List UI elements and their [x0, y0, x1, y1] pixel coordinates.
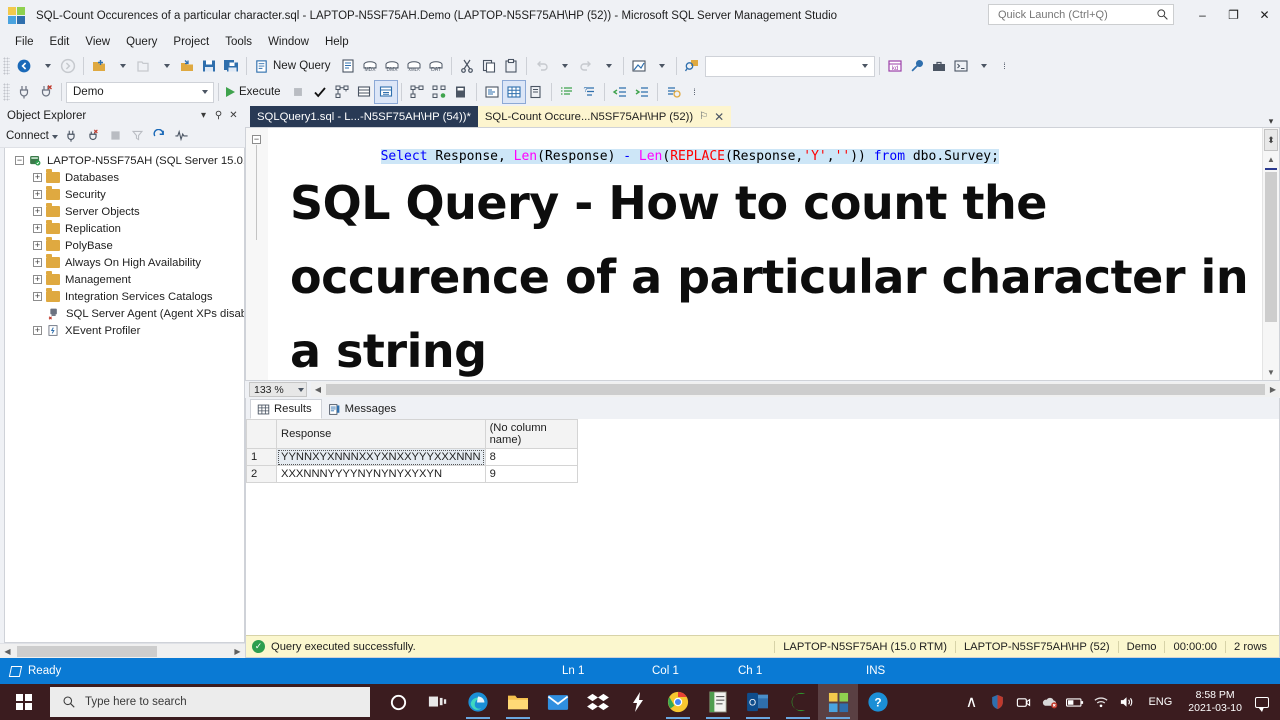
new-data-query-icon[interactable]: DAT: [425, 55, 447, 77]
results-panel: Results Messages: [245, 398, 1280, 658]
options-wrench-icon[interactable]: [906, 55, 928, 77]
lightning-icon[interactable]: [618, 684, 658, 720]
disconnect-icon[interactable]: [35, 81, 57, 103]
quick-launch-input[interactable]: [996, 8, 1156, 22]
scroll-thumb[interactable]: [1265, 172, 1277, 322]
tree-node-label: Server Objects: [65, 206, 140, 218]
messages-icon: [328, 403, 341, 416]
include-client-statistics-icon[interactable]: [428, 81, 450, 103]
tree-node-management[interactable]: + Management: [5, 271, 244, 288]
sql-token: from: [874, 149, 905, 164]
tree-node-polybase[interactable]: + PolyBase: [5, 237, 244, 254]
undo-icon[interactable]: [531, 55, 553, 77]
pin-icon[interactable]: ⚐: [699, 111, 708, 122]
tab-sqlquery1[interactable]: SQLQuery1.sql - L...-N5SF75AH\HP (54))*: [250, 106, 478, 127]
include-actual-execution-plan-icon[interactable]: [375, 81, 397, 103]
menu-window[interactable]: Window: [260, 34, 317, 51]
increase-indent-icon[interactable]: [631, 81, 653, 103]
split-view-handle[interactable]: ⬍: [1264, 129, 1278, 151]
battery-icon[interactable]: [1062, 684, 1088, 720]
execute-button[interactable]: Execute: [223, 81, 287, 103]
standard-toolbar: New Query MDX DMX XMLA DAT: [0, 53, 1280, 79]
folder-icon: [46, 223, 60, 234]
sql-token: 'Y': [803, 149, 826, 164]
svg-text:O: O: [749, 698, 756, 708]
tree-node-label: Integration Services Catalogs: [65, 291, 213, 303]
navigate-back-icon[interactable]: [13, 55, 35, 77]
mail-icon[interactable]: [538, 684, 578, 720]
expander-icon[interactable]: +: [33, 292, 42, 301]
ssms-window: SQL-Count Occurences of a particular cha…: [0, 0, 1280, 684]
tree-node-label: Security: [65, 189, 106, 201]
windows-taskbar: Type here to search: [0, 684, 1280, 720]
tree-node-label: Databases: [65, 172, 119, 184]
chevron-down-icon[interactable]: ▾: [196, 110, 211, 121]
find-chevron-down-icon[interactable]: [857, 64, 871, 68]
object-explorer-toolbar: Connect: [0, 124, 245, 148]
cut-icon[interactable]: [456, 55, 478, 77]
expander-icon[interactable]: +: [33, 326, 42, 335]
copy-icon[interactable]: [478, 55, 500, 77]
screen-recorder-icon[interactable]: [1010, 684, 1036, 720]
oe-refresh-icon[interactable]: [149, 126, 170, 146]
tree-node-always-on[interactable]: + Always On High Availability: [5, 254, 244, 271]
action-center-icon[interactable]: [1250, 684, 1274, 720]
tree-node-label: SQL Server Agent (Agent XPs disabl: [66, 308, 245, 320]
tab-results[interactable]: Results: [250, 399, 322, 419]
ssms-logo-icon: [8, 7, 27, 26]
find-icon[interactable]: [681, 55, 703, 77]
menu-view[interactable]: View: [77, 34, 118, 51]
status-character: Ch 1: [738, 665, 762, 677]
new-project-icon[interactable]: [88, 55, 110, 77]
uncomment-lines-icon[interactable]: ?: [578, 81, 600, 103]
status-column: Col 1: [652, 665, 679, 677]
redo-dropdown[interactable]: [597, 55, 619, 77]
menu-project[interactable]: Project: [165, 34, 217, 51]
execution-plan-dropdown[interactable]: [650, 55, 672, 77]
onedrive-offline-icon[interactable]: [1036, 684, 1062, 720]
clock-time: 8:58 PM: [1188, 689, 1242, 702]
zoom-level-value: 133 %: [254, 384, 295, 396]
zoom-level-combo[interactable]: 133 %: [249, 382, 307, 397]
edge-icon[interactable]: [458, 684, 498, 720]
object-explorer-tree[interactable]: − LAPTOP-N5SF75AH (SQL Server 15.0.20 + …: [4, 148, 245, 643]
find-combo[interactable]: [705, 56, 875, 77]
expander-icon[interactable]: +: [33, 173, 42, 182]
sql-code-editor[interactable]: − Select Response, Len(Response) - Len(R…: [245, 127, 1280, 381]
navigate-back-dropdown[interactable]: [35, 55, 57, 77]
editor-area: SQLQuery1.sql - L...-N5SF75AH\HP (54))* …: [245, 105, 1280, 658]
navigate-forward-icon[interactable]: [57, 55, 79, 77]
toolbar2-overflow-icon[interactable]: ⁞: [684, 81, 706, 103]
vs-status-bar: Ready Ln 1 Col 1 Ch 1 INS: [0, 658, 1280, 684]
command-window-icon[interactable]: [950, 55, 972, 77]
object-explorer-hscrollbar[interactable]: ◀ ▶: [0, 643, 245, 658]
server-icon: [28, 154, 42, 167]
success-check-icon: ✓: [252, 640, 265, 653]
tree-node-label: PolyBase: [65, 240, 113, 252]
taskbar-icons: O ?: [378, 684, 898, 720]
screen: SQL-Count Occurences of a particular cha…: [0, 0, 1280, 720]
pin-icon[interactable]: ⚲: [211, 110, 226, 121]
menu-help[interactable]: Help: [317, 34, 357, 51]
close-icon[interactable]: ✕: [226, 110, 241, 121]
restore-button[interactable]: ❐: [1218, 0, 1249, 30]
menu-query[interactable]: Query: [118, 34, 165, 51]
scroll-down-icon[interactable]: ▼: [1263, 365, 1279, 380]
query-options-icon[interactable]: [353, 81, 375, 103]
save-icon[interactable]: [198, 55, 220, 77]
menu-file[interactable]: File: [7, 34, 42, 51]
expander-icon[interactable]: +: [33, 190, 42, 199]
object-explorer-header: Object Explorer ▾ ⚲ ✕: [0, 107, 245, 124]
specify-template-parameters-icon[interactable]: [662, 81, 684, 103]
agent-disabled-icon: [47, 307, 61, 320]
database-chevron-down-icon[interactable]: [196, 90, 210, 94]
menu-edit[interactable]: Edit: [42, 34, 78, 51]
window-title: SQL-Count Occurences of a particular cha…: [36, 10, 837, 22]
help-icon[interactable]: ?: [858, 684, 898, 720]
save-all-icon[interactable]: [220, 55, 242, 77]
results-to-file-icon[interactable]: [450, 81, 472, 103]
outlook-icon[interactable]: O: [738, 684, 778, 720]
execute-label: Execute: [239, 86, 281, 98]
expander-icon[interactable]: +: [33, 275, 42, 284]
start-button[interactable]: [0, 684, 48, 720]
scroll-right-icon[interactable]: ▶: [1266, 385, 1280, 394]
col-header-response[interactable]: Response: [277, 420, 486, 449]
query-status-bar: ✓ Query executed successfully. LAPTOP-N5…: [246, 635, 1279, 657]
close-button[interactable]: ✕: [1249, 0, 1280, 30]
clock[interactable]: 8:58 PM 2021-03-10: [1180, 689, 1250, 715]
status-elapsed: 00:00:00: [1164, 641, 1225, 653]
new-dmx-query-icon[interactable]: DMX: [381, 55, 403, 77]
expander-icon[interactable]: +: [33, 224, 42, 233]
scroll-left-icon[interactable]: ◀: [0, 647, 15, 656]
grid-icon: [257, 403, 270, 416]
tree-node-server[interactable]: − LAPTOP-N5SF75AH (SQL Server 15.0.20: [5, 152, 244, 169]
query-status-message: Query executed successfully.: [271, 641, 416, 653]
sql-token: Response,: [428, 149, 514, 164]
sql-token: Select: [381, 149, 428, 164]
search-placeholder: Type here to search: [85, 696, 187, 708]
notepad-icon[interactable]: [698, 684, 738, 720]
scroll-thumb[interactable]: [17, 646, 157, 657]
language-indicator[interactable]: ENG: [1140, 696, 1180, 708]
status-ready: Ready: [0, 665, 61, 677]
tabstrip-dropdown-icon[interactable]: ▾: [1262, 116, 1280, 127]
table-row[interactable]: 1 YYNNXYXNNNXXYXNXXYYYXXXNNN 8: [247, 449, 578, 466]
results-tabstrip: Results Messages: [246, 398, 1279, 419]
object-explorer-title: Object Explorer: [7, 110, 196, 122]
new-mdx-query-icon[interactable]: MDX: [359, 55, 381, 77]
oe-connect-icon[interactable]: [61, 126, 82, 146]
results-to-text-icon[interactable]: [481, 81, 503, 103]
workspace: Object Explorer ▾ ⚲ ✕ Connect: [0, 105, 1280, 658]
folder-icon: [46, 291, 60, 302]
xevent-icon: [46, 324, 60, 337]
window-controls: – ❐ ✕: [1187, 0, 1280, 30]
status-database: Demo: [1118, 641, 1165, 653]
tree-node-server-objects[interactable]: + Server Objects: [5, 203, 244, 220]
overlay-title-text: SQL Query - How to count the occurence o…: [290, 166, 1259, 381]
svg-text:MDX: MDX: [364, 67, 376, 73]
status-rowcount: 2 rows: [1225, 641, 1275, 653]
row-number[interactable]: 2: [247, 466, 277, 483]
tree-node-label: Management: [65, 274, 131, 286]
oe-stop-icon[interactable]: [105, 126, 126, 146]
scroll-thumb[interactable]: [326, 384, 1265, 395]
folder-icon: [46, 274, 60, 285]
quick-launch-box[interactable]: [988, 4, 1174, 25]
editor-zoom-bar: 133 % ◀ ▶: [245, 381, 1280, 398]
svg-text:DMX: DMX: [386, 67, 398, 73]
expander-icon[interactable]: −: [15, 156, 24, 165]
search-icon: [1156, 8, 1169, 21]
dropbox-icon[interactable]: [578, 684, 618, 720]
stop-icon[interactable]: [287, 81, 309, 103]
toolbox-icon[interactable]: [928, 55, 950, 77]
code-body[interactable]: Select Response, Len(Response) - Len(REP…: [268, 128, 1279, 380]
volume-icon[interactable]: [1114, 684, 1140, 720]
tree-node-sql-server-agent[interactable]: SQL Server Agent (Agent XPs disabl: [5, 305, 244, 322]
open-file-icon[interactable]: [176, 55, 198, 77]
results-to-grid-icon[interactable]: [503, 81, 525, 103]
new-xmla-query-icon[interactable]: XMLA: [403, 55, 425, 77]
task-view-icon[interactable]: [418, 684, 458, 720]
sql-token: dbo.Survey;: [905, 149, 999, 164]
editor-gutter: −: [246, 128, 268, 380]
expander-icon[interactable]: +: [33, 207, 42, 216]
cortana-icon[interactable]: [378, 684, 418, 720]
sql-token: (: [662, 149, 670, 164]
sql-token: )): [850, 149, 873, 164]
tree-node-xevent-profiler[interactable]: + XEvent Profiler: [5, 322, 244, 339]
clock-date: 2021-03-10: [1188, 702, 1242, 715]
new-analysis-query-icon[interactable]: [337, 55, 359, 77]
file-explorer-icon[interactable]: [498, 684, 538, 720]
connect-label: Connect: [6, 130, 49, 142]
tree-node-integration-services[interactable]: + Integration Services Catalogs: [5, 288, 244, 305]
show-hidden-icons-chevron-up-icon[interactable]: ∧: [958, 684, 984, 720]
query-status-details: LAPTOP-N5SF75AH (15.0 RTM) LAPTOP-N5SF75…: [774, 641, 1275, 653]
ssms-icon[interactable]: [818, 684, 858, 720]
cell-response[interactable]: YYNNXYXNNNXXYXNXXYYYXXXNNN: [277, 449, 486, 466]
status-server: LAPTOP-N5SF75AH (15.0 RTM): [774, 641, 955, 653]
scroll-position-marker: [1265, 168, 1277, 170]
tab-messages[interactable]: Messages: [322, 399, 406, 419]
chrome-icon[interactable]: [658, 684, 698, 720]
title-bar: SQL-Count Occurences of a particular cha…: [0, 0, 1280, 32]
svg-text:?: ?: [583, 87, 587, 94]
notifications-icon: [1255, 697, 1269, 708]
sql-token: ,: [827, 149, 835, 164]
parse-check-icon[interactable]: [309, 81, 331, 103]
malwarebytes-icon[interactable]: [984, 684, 1010, 720]
row-number[interactable]: 1: [247, 449, 277, 466]
taskbar-search-box[interactable]: Type here to search: [50, 687, 370, 717]
scroll-right-icon[interactable]: ▶: [230, 647, 245, 656]
status-user: LAPTOP-N5SF75AH\HP (52): [955, 641, 1118, 653]
tab-label: Messages: [345, 403, 397, 415]
cell-response[interactable]: XXXNNNYYYYNYNYNYXYXYN: [277, 466, 486, 483]
toolbar2-grip[interactable]: [3, 83, 10, 101]
sql-token: Len: [514, 149, 537, 164]
tree-node-databases[interactable]: + Databases: [5, 169, 244, 186]
collapse-region-icon[interactable]: −: [252, 135, 261, 144]
sql-editor-toolbar: Demo Execute: [0, 79, 1280, 105]
editor-horizontal-scrollbar[interactable]: ◀ ▶: [311, 382, 1280, 397]
comment-lines-icon[interactable]: [556, 81, 578, 103]
undo-dropdown[interactable]: [553, 55, 575, 77]
status-insert-mode: INS: [866, 665, 885, 677]
expander-icon[interactable]: +: [33, 241, 42, 250]
folder-icon: [46, 240, 60, 251]
menu-tools[interactable]: Tools: [217, 34, 260, 51]
scroll-left-icon[interactable]: ◀: [311, 385, 325, 394]
table-row[interactable]: 2 XXXNNNYYYYNYNYNYXYXYN 9: [247, 466, 578, 483]
toolbar-overflow-icon[interactable]: ⁞: [994, 55, 1016, 77]
wifi-icon[interactable]: [1088, 684, 1114, 720]
decrease-indent-icon[interactable]: [609, 81, 631, 103]
tab-label: SQLQuery1.sql - L...-N5SF75AH\HP (54))*: [257, 111, 471, 123]
ready-icon: [9, 666, 22, 677]
table-header-row: Response (No column name): [247, 420, 578, 449]
sql-token: [631, 149, 639, 164]
new-query-icon: [254, 59, 269, 74]
folder-icon: [46, 206, 60, 217]
status-line: Ln 1: [562, 665, 584, 677]
tab-sql-count-occurrences[interactable]: SQL-Count Occure...N5SF75AH\HP (52)) ⚐ ✕: [478, 106, 731, 127]
svg-text:XMLA: XMLA: [408, 67, 420, 72]
sql-token: Len: [639, 149, 662, 164]
paste-icon[interactable]: [500, 55, 522, 77]
sql-token: (Response,: [725, 149, 803, 164]
command-window-dropdown[interactable]: [972, 55, 994, 77]
col-header-no-name[interactable]: (No column name): [485, 420, 577, 449]
connect-icon[interactable]: [13, 81, 35, 103]
results-table: Response (No column name) 1 YYNNXYXNNNXX…: [246, 419, 578, 483]
new-query-button[interactable]: New Query: [251, 55, 337, 77]
menu-bar: File Edit View Query Project Tools Windo…: [0, 32, 1280, 53]
oe-activity-monitor-icon[interactable]: [171, 126, 192, 146]
sql-token: (Response): [537, 149, 623, 164]
tab-label: Results: [274, 403, 312, 415]
database-combo[interactable]: Demo: [66, 82, 214, 103]
folder-icon: [46, 189, 60, 200]
results-to-file2-icon[interactable]: [525, 81, 547, 103]
execution-plan-icon[interactable]: [628, 55, 650, 77]
cell-count[interactable]: 8: [485, 449, 577, 466]
document-tabstrip: SQLQuery1.sql - L...-N5SF75AH\HP (54))* …: [245, 105, 1280, 127]
col-header-rownum[interactable]: [247, 420, 277, 449]
toolbar-grip[interactable]: [3, 57, 10, 75]
redo-icon[interactable]: [575, 55, 597, 77]
add-new-item-icon[interactable]: [132, 55, 154, 77]
region-line: [256, 145, 257, 240]
properties-window-icon[interactable]: kd: [884, 55, 906, 77]
tab-label: SQL-Count Occure...N5SF75AH\HP (52)): [485, 111, 693, 123]
display-estimated-plan-icon[interactable]: [331, 81, 353, 103]
new-project-dropdown[interactable]: [110, 55, 132, 77]
sql-token: '': [835, 149, 851, 164]
connect-dropdown-button[interactable]: Connect: [6, 130, 60, 142]
camtasia-icon[interactable]: [778, 684, 818, 720]
editor-vertical-scrollbar[interactable]: ⬍ ▲ ▼: [1262, 128, 1279, 380]
tree-node-server-label: LAPTOP-N5SF75AH (SQL Server 15.0.20: [47, 155, 245, 167]
folder-icon: [46, 172, 60, 183]
close-icon[interactable]: ✕: [714, 110, 724, 124]
tree-node-replication[interactable]: + Replication: [5, 220, 244, 237]
results-grid[interactable]: Response (No column name) 1 YYNNXYXNNNXX…: [246, 419, 1279, 635]
expander-icon[interactable]: +: [33, 258, 42, 267]
minimize-button[interactable]: –: [1187, 0, 1218, 30]
new-query-label: New Query: [273, 60, 331, 72]
oe-filter-icon[interactable]: [127, 126, 148, 146]
system-tray: ∧ ENG 8:58 PM 2021-03-10: [958, 684, 1280, 720]
execute-play-icon: [226, 87, 235, 97]
tree-node-label: XEvent Profiler: [65, 325, 140, 337]
svg-text:DAT: DAT: [431, 67, 441, 73]
svg-text:kd: kd: [891, 66, 897, 72]
svg-text:?: ?: [874, 696, 881, 710]
tree-node-label: Replication: [65, 223, 121, 235]
cell-count[interactable]: 9: [485, 466, 577, 483]
windows-logo-icon: [16, 694, 32, 710]
oe-disconnect-icon[interactable]: [83, 126, 104, 146]
folder-icon: [46, 257, 60, 268]
search-icon: [62, 695, 76, 709]
sql-token: REPLACE: [670, 149, 725, 164]
object-explorer-panel: Object Explorer ▾ ⚲ ✕ Connect: [0, 105, 245, 658]
include-live-query-stats-icon[interactable]: [406, 81, 428, 103]
ready-label: Ready: [28, 665, 61, 677]
tree-node-security[interactable]: + Security: [5, 186, 244, 203]
database-value: Demo: [73, 86, 196, 98]
scroll-up-icon[interactable]: ▲: [1263, 152, 1279, 167]
add-item-dropdown[interactable]: [154, 55, 176, 77]
tree-node-label: Always On High Availability: [65, 257, 201, 269]
sql-token: -: [623, 149, 631, 164]
